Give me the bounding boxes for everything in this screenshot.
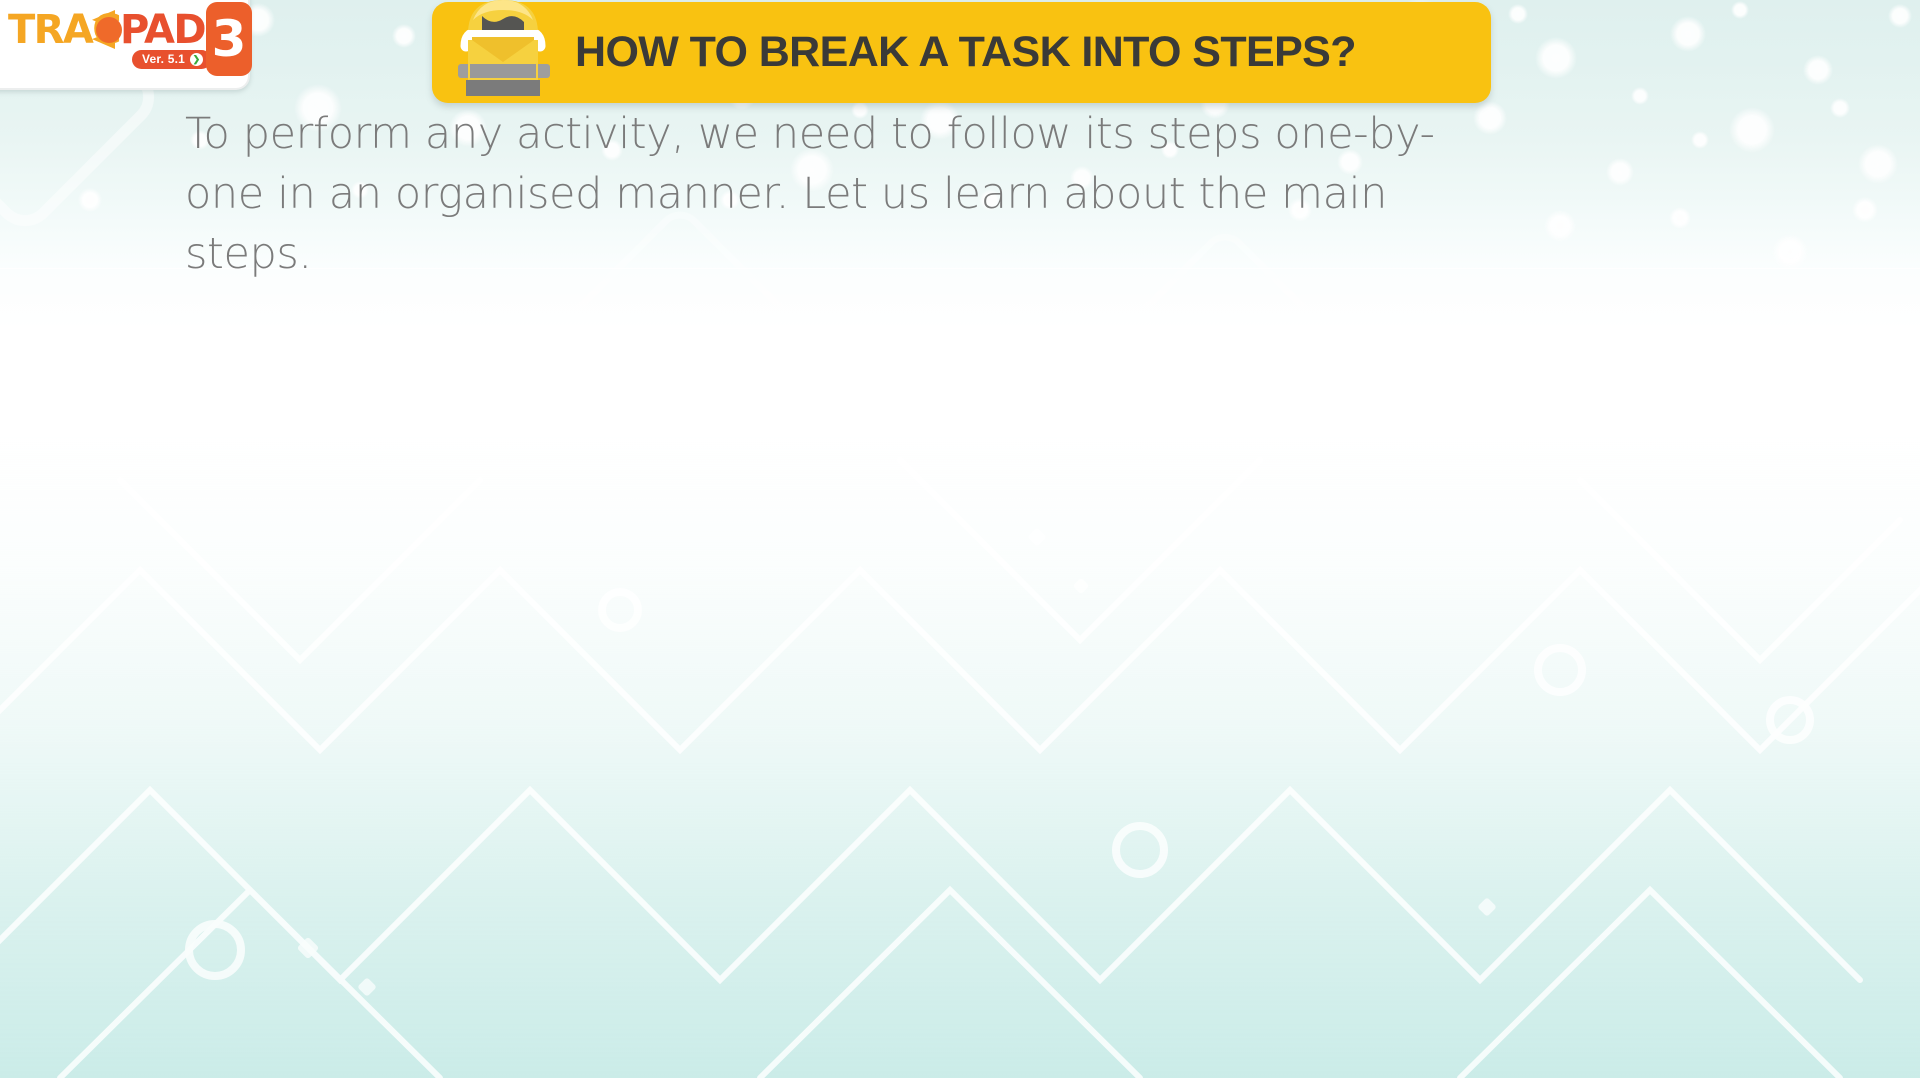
page-title: HOW TO BREAK A TASK INTO STEPS? [575, 2, 1465, 103]
slide-canvas: TRACPAD Ver. 5.1 ❯ 3 [0, 0, 1920, 1078]
intro-paragraph: To perform any activity, we need to foll… [185, 104, 1445, 284]
logo-word-pad: PAD [120, 7, 205, 53]
bottom-mint-gradient [0, 430, 1920, 1078]
version-label: Ver. 5.1 [142, 52, 185, 66]
logo-kite-dot-icon [96, 17, 122, 43]
logo-inner: TRACPAD Ver. 5.1 ❯ 3 [0, 0, 248, 88]
title-banner: HOW TO BREAK A TASK INTO STEPS? [432, 2, 1491, 103]
robot-mascot-icon [442, 0, 564, 102]
version-badge[interactable]: Ver. 5.1 ❯ [132, 50, 211, 69]
chevron-right-icon: ❯ [190, 53, 203, 66]
edition-badge: 3 [206, 2, 252, 76]
circuit-board-watermark [0, 420, 1920, 1078]
trackpad-logo-card[interactable]: TRACPAD Ver. 5.1 ❯ 3 [0, 0, 250, 90]
